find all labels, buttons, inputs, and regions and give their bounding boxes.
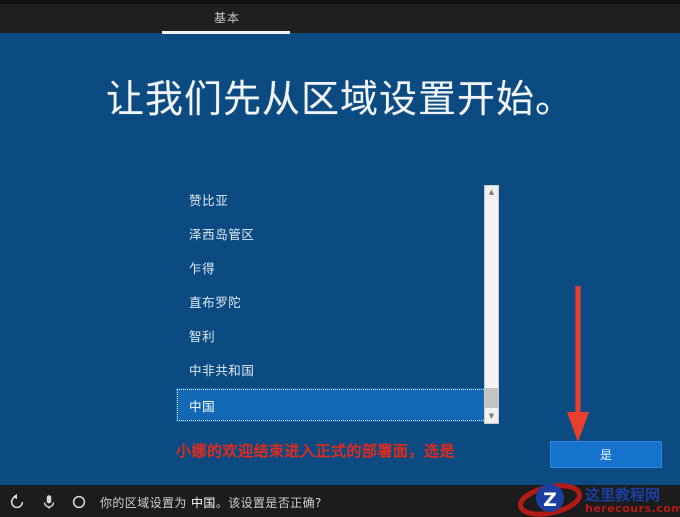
region-list-item-label: 泽西岛管区 <box>189 224 255 243</box>
annotation-arrow-icon <box>565 286 591 442</box>
region-list-item[interactable]: 赞比亚 <box>176 184 491 215</box>
annotation-text: 小娜的欢迎结束进入正式的部署面，选是 <box>176 440 536 461</box>
region-list-item[interactable]: 泽西岛管区 <box>176 218 491 249</box>
status-suffix: 。该设置是否正确? <box>216 496 322 510</box>
region-list-item[interactable]: 智利 <box>176 320 491 351</box>
watermark: Z 这里教程网 herecours.com <box>517 483 680 517</box>
replay-icon[interactable] <box>8 493 26 511</box>
yes-button-label: 是 <box>600 446 612 463</box>
microphone-icon[interactable] <box>40 493 58 511</box>
region-list-item-label: 中国 <box>189 396 215 415</box>
scrollbar-track[interactable] <box>485 199 498 410</box>
watermark-letter: Z <box>543 489 557 511</box>
region-list-item-label: 乍得 <box>189 258 215 277</box>
watermark-logo-icon: Z <box>517 483 583 517</box>
region-list-item-label: 赞比亚 <box>189 190 228 209</box>
tab-basic-label: 基本 <box>214 9 240 26</box>
region-list-scrollbar[interactable]: ▲ ▼ <box>484 185 499 424</box>
region-list-item-label: 智利 <box>189 326 215 345</box>
region-list-item-label: 中非共和国 <box>189 360 255 379</box>
region-list-item[interactable]: 中非共和国 <box>176 354 491 385</box>
status-text: 你的区域设置为 中国。该设置是否正确? <box>100 494 322 511</box>
top-bar: 基本 <box>0 0 680 33</box>
circle-icon[interactable] <box>70 493 88 511</box>
scroll-down-arrow-icon[interactable]: ▼ <box>485 410 498 423</box>
top-bar-strip <box>0 0 680 4</box>
region-list-item-label: 直布罗陀 <box>189 292 241 311</box>
tab-active-underline <box>162 31 290 34</box>
region-list-item[interactable]: 乍得 <box>176 252 491 283</box>
tab-basic[interactable]: 基本 <box>163 6 291 28</box>
region-list-item[interactable]: 中国 <box>176 388 491 422</box>
status-highlight: 中国 <box>191 496 216 510</box>
region-list[interactable]: 赞比亚泽西岛管区乍得直布罗陀智利中非共和国中国 <box>176 184 499 424</box>
yes-button[interactable]: 是 <box>550 441 662 468</box>
page-title: 让我们先从区域设置开始。 <box>0 76 680 122</box>
watermark-site-url: herecours.com <box>585 502 680 515</box>
scroll-up-arrow-icon[interactable]: ▲ <box>485 186 498 199</box>
scrollbar-thumb[interactable] <box>485 388 498 408</box>
setup-screen: 基本 让我们先从区域设置开始。 赞比亚泽西岛管区乍得直布罗陀智利中非共和国中国 … <box>0 0 680 517</box>
status-prefix: 你的区域设置为 <box>100 496 191 510</box>
region-list-item[interactable]: 直布罗陀 <box>176 286 491 317</box>
